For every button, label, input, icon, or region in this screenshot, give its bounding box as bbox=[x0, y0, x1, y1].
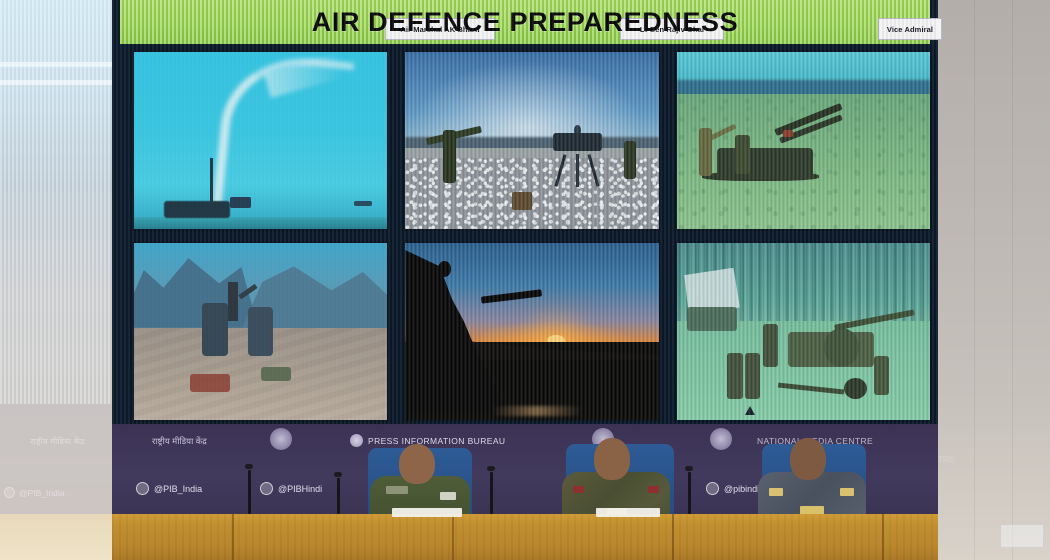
missile-launch-tube bbox=[426, 125, 482, 144]
sensor-head bbox=[553, 133, 602, 151]
social-icon bbox=[706, 482, 719, 495]
smoke-trail bbox=[212, 50, 354, 224]
mountain-ridge-left bbox=[132, 254, 258, 328]
press-briefing-scene: राष्ट्रीय मीडिया केंद्र @PIB_India AIR D… bbox=[0, 0, 1050, 560]
mounted-weapon bbox=[228, 282, 238, 321]
uniform-patch bbox=[440, 492, 456, 500]
backdrop-hindi-label: राष्ट्रीय मीडिया केंद्र bbox=[152, 436, 207, 447]
gun-emplacement bbox=[405, 250, 506, 413]
shoulder-board bbox=[840, 488, 854, 496]
slide-title: AIR DEFENCE PREPAREDNESS bbox=[312, 7, 738, 38]
barrel-marking bbox=[783, 130, 793, 137]
speaker-head bbox=[594, 438, 630, 480]
microphone-head bbox=[487, 466, 495, 471]
state-emblem-icon bbox=[350, 434, 363, 447]
microphone-head bbox=[245, 464, 253, 469]
handle-pib-hindi: @PIBHindi bbox=[260, 482, 322, 495]
horizon-line bbox=[405, 137, 658, 151]
gun-shield bbox=[824, 328, 859, 367]
speaker-head bbox=[399, 444, 435, 484]
speakers-desk bbox=[112, 514, 938, 560]
second-soldier bbox=[624, 141, 635, 180]
launcher-mast bbox=[210, 158, 213, 204]
mountain-ridge-right bbox=[240, 261, 389, 332]
microphone-stand bbox=[337, 478, 340, 514]
photo-tile-sunset-silhouette bbox=[403, 241, 660, 422]
weapon-barrel bbox=[238, 284, 258, 300]
handle-text: @PIB_India bbox=[154, 484, 202, 494]
photo-tile-mountain-post bbox=[132, 241, 389, 422]
grass-field bbox=[677, 94, 930, 229]
tree-background bbox=[677, 243, 930, 324]
launcher-vehicle bbox=[164, 201, 230, 219]
speaker-head bbox=[790, 438, 826, 480]
photo-tile-missile-launch bbox=[132, 50, 389, 231]
soldier-aiming bbox=[443, 130, 456, 183]
tripod-leg bbox=[554, 154, 565, 186]
slide-title-banner: AIR DEFENCE PREPAREDNESS bbox=[120, 0, 930, 44]
crew-member bbox=[763, 324, 778, 366]
pib-label-text: PRESS INFORMATION BUREAU bbox=[368, 436, 505, 446]
setting-sun bbox=[547, 335, 565, 346]
shoulder-board bbox=[769, 488, 783, 496]
gun-platform bbox=[702, 172, 819, 181]
field-foreground bbox=[677, 321, 930, 420]
microphone-head bbox=[685, 466, 693, 471]
gun-barrel-second bbox=[779, 115, 843, 144]
crew-member bbox=[874, 356, 889, 395]
ground-strip bbox=[134, 217, 387, 229]
microphone-head bbox=[334, 472, 342, 477]
left-desk-edge bbox=[0, 514, 112, 560]
social-icon bbox=[136, 482, 149, 495]
distant-vehicle bbox=[354, 201, 372, 206]
gun-trail-arm bbox=[778, 383, 844, 395]
dark-foreground bbox=[405, 342, 658, 420]
crew-member bbox=[727, 353, 742, 399]
photo-tile-aa-gun-field bbox=[675, 50, 932, 231]
rank-insignia bbox=[573, 486, 584, 493]
photo-tile-rooftop-manpads bbox=[403, 50, 660, 231]
tripod-leg bbox=[588, 154, 599, 186]
tripod-sensor bbox=[550, 133, 606, 186]
rocky-foreground bbox=[134, 328, 387, 420]
social-icon bbox=[260, 482, 273, 495]
soldier-left bbox=[202, 303, 227, 356]
soldier-gunner bbox=[735, 135, 750, 174]
microphone-stand bbox=[490, 472, 493, 514]
microphone-stand bbox=[248, 470, 251, 514]
gravel-rooftop bbox=[405, 158, 658, 229]
gun-wheel bbox=[844, 378, 867, 399]
smoke-wisp bbox=[264, 53, 344, 98]
radar-dish bbox=[684, 268, 740, 314]
left-panel-handle-text: @PIB_India bbox=[19, 488, 65, 498]
left-panel-handle: @PIB_India bbox=[4, 487, 65, 498]
equipment-case bbox=[261, 367, 291, 381]
emblem-icon bbox=[710, 428, 732, 450]
briefing-papers bbox=[392, 508, 462, 517]
ammo-crate bbox=[512, 192, 532, 210]
handle-pibindia: @pibindia bbox=[706, 482, 764, 495]
silhouetted-gun-barrel bbox=[481, 289, 542, 303]
range-marker-cone bbox=[745, 406, 755, 415]
social-icon bbox=[4, 487, 15, 498]
backdrop-pib-label: PRESS INFORMATION BUREAU bbox=[350, 434, 505, 447]
towed-gun-body bbox=[788, 332, 874, 367]
right-wall-panel bbox=[938, 0, 1050, 560]
briefing-papers bbox=[596, 508, 660, 517]
soldier-standing bbox=[699, 128, 712, 176]
sensor-antenna bbox=[574, 125, 581, 136]
handle-text: @PIBHindi bbox=[278, 484, 322, 494]
tripod-leg bbox=[576, 154, 579, 187]
gun-barrel bbox=[774, 103, 842, 136]
left-panel-hindi-label: राष्ट्रीय मीडिया केंद्र bbox=[10, 436, 105, 447]
right-panel-plate bbox=[1000, 524, 1044, 548]
soldier-arm bbox=[707, 123, 737, 141]
rank-insignia bbox=[648, 486, 659, 493]
microphone-stand bbox=[688, 472, 691, 514]
name-tape bbox=[386, 486, 408, 494]
photo-tile-gun-and-radar bbox=[675, 241, 932, 422]
handle-pib-india: @PIB_India bbox=[136, 482, 202, 495]
secondary-vehicle bbox=[230, 197, 250, 208]
left-secondary-screen bbox=[0, 0, 112, 404]
towed-gun-barrel bbox=[834, 310, 915, 331]
projection-screen: AIR DEFENCE PREPAREDNESS bbox=[112, 0, 938, 424]
distant-treeline bbox=[677, 80, 930, 96]
soldier-right bbox=[248, 307, 273, 357]
equipment-bag bbox=[190, 374, 231, 392]
sky-haze bbox=[405, 52, 658, 144]
earth-berm bbox=[405, 335, 658, 360]
crew-member bbox=[745, 353, 760, 399]
radar-vehicle bbox=[687, 307, 738, 332]
photo-grid bbox=[128, 46, 936, 426]
right-panel-partial-label: TRE bbox=[938, 455, 998, 464]
left-wall-panel: राष्ट्रीय मीडिया केंद्र @PIB_India bbox=[0, 0, 112, 560]
emblem-icon bbox=[270, 428, 292, 450]
nameplate-vice-admiral: Vice Admiral bbox=[878, 18, 942, 40]
water-reflection bbox=[491, 406, 582, 417]
sunset-glow bbox=[481, 321, 638, 360]
gun-body bbox=[717, 148, 813, 180]
rooftop-parapet bbox=[405, 148, 658, 160]
silhouetted-soldier bbox=[438, 261, 451, 277]
